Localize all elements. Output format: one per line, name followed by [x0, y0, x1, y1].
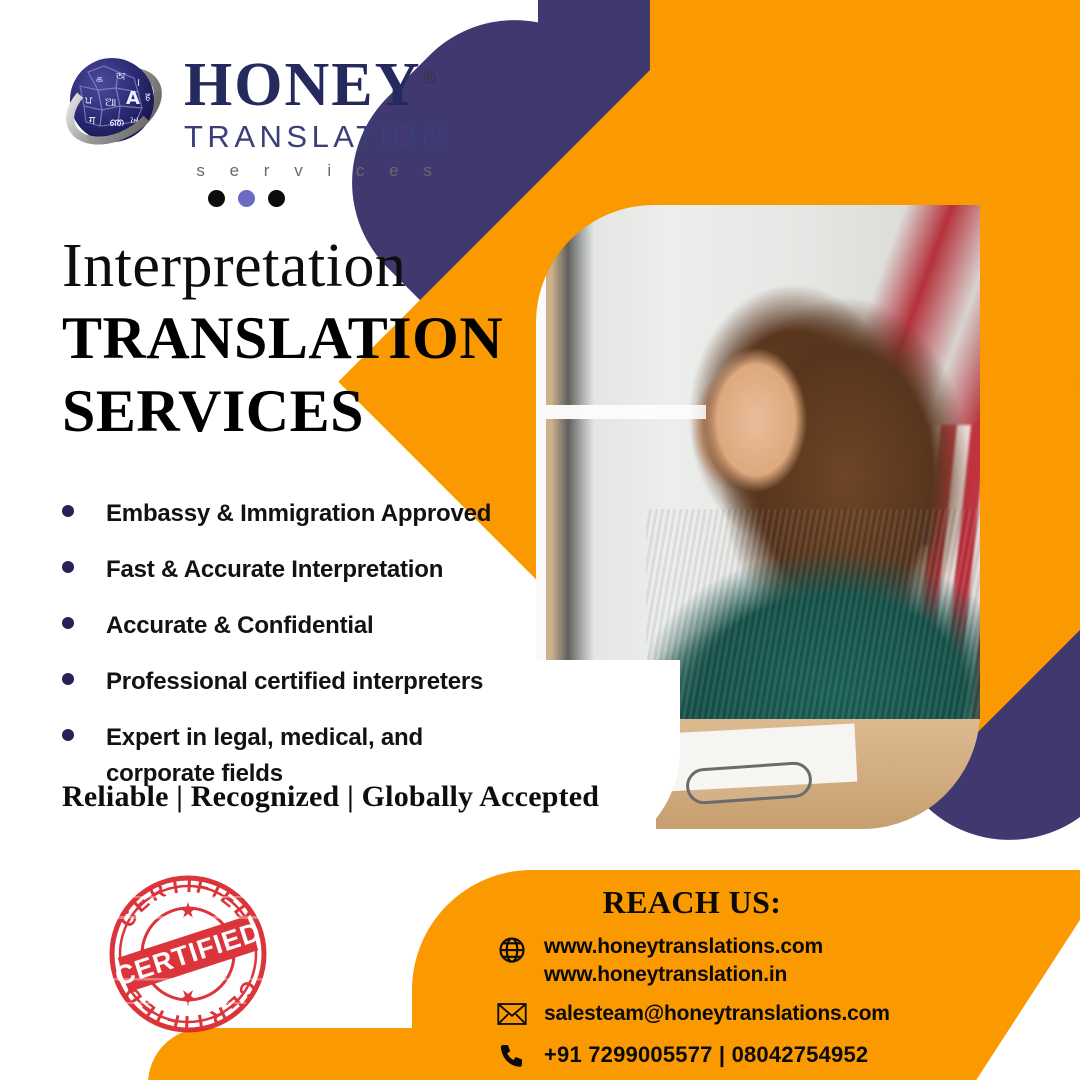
photo-notch-fill — [536, 700, 656, 840]
svg-text:A: A — [126, 88, 140, 109]
registered-trademark-icon: ® — [423, 68, 438, 87]
headline-main-line-2: SERVICES — [62, 378, 503, 445]
globe-logo-icon: க অ । ਪ ଆ A ह ग ഞ ખ — [58, 48, 170, 160]
feature-label: Fast & Accurate Interpretation — [106, 552, 443, 588]
headline-main-line-1: TRANSLATION — [62, 305, 503, 372]
contact-section: REACH US: www.honeytranslations.com www.… — [412, 870, 1080, 1080]
dot-1 — [208, 190, 225, 207]
bullet-dot-icon — [62, 673, 74, 685]
headline-script-line: Interpretation — [62, 234, 503, 299]
logo-name: HONEY® — [184, 56, 438, 115]
website-primary[interactable]: www.honeytranslations.com — [544, 935, 823, 958]
contact-row-email[interactable]: salesteam@honeytranslations.com — [490, 1000, 1080, 1028]
contact-row-phone[interactable]: +91 7299005577 | 08042754952 — [490, 1040, 1080, 1072]
svg-text:ഞ: ഞ — [109, 116, 124, 129]
list-item: Fast & Accurate Interpretation — [56, 552, 526, 588]
phone-icon — [490, 1040, 534, 1072]
svg-text:ह: ह — [145, 92, 151, 103]
bullet-dot-icon — [62, 729, 74, 741]
logo-line-services: s e r v i c e s — [184, 161, 448, 181]
contact-phone-value[interactable]: +91 7299005577 | 08042754952 — [544, 1040, 868, 1069]
dot-2 — [238, 190, 255, 207]
certified-stamp: CERTIFIED CERTIFIED CERTIFIED — [106, 872, 270, 1036]
brand-logo-wordmark: HONEY® TRANSLATION s e r v i c e s — [184, 48, 448, 181]
bullet-dot-icon — [62, 561, 74, 573]
feature-label: Professional certified interpreters — [106, 664, 483, 700]
website-secondary[interactable]: www.honeytranslation.in — [544, 963, 787, 986]
bullet-dot-icon — [62, 617, 74, 629]
poster-canvas: க অ । ਪ ଆ A ह ग ഞ ખ HONEY® TRANSLATION s… — [0, 0, 1080, 1080]
list-item: Embassy & Immigration Approved — [56, 496, 526, 532]
svg-text:অ: অ — [115, 70, 126, 83]
svg-text:ଆ: ଆ — [105, 95, 117, 109]
dot-3 — [268, 190, 285, 207]
contact-website-values: www.honeytranslations.com www.honeytrans… — [544, 933, 823, 988]
contact-row-website[interactable]: www.honeytranslations.com www.honeytrans… — [490, 933, 1080, 988]
contact-heading: REACH US: — [412, 884, 972, 921]
bullet-dot-icon — [62, 505, 74, 517]
feature-label: Embassy & Immigration Approved — [106, 496, 491, 532]
svg-text:ग: ग — [89, 114, 96, 127]
svg-text:ਪ: ਪ — [84, 94, 93, 107]
feature-list: Embassy & Immigration Approved Fast & Ac… — [56, 496, 526, 812]
logo-line-translation: TRANSLATION — [184, 119, 448, 155]
envelope-icon — [490, 1000, 534, 1026]
page-title: Interpretation TRANSLATION SERVICES — [62, 234, 503, 445]
svg-text:க: க — [96, 72, 103, 85]
globe-icon — [490, 933, 534, 965]
feature-label: Accurate & Confidential — [106, 608, 373, 644]
dot-separator — [208, 190, 285, 207]
list-item: Professional certified interpreters — [56, 664, 526, 700]
brand-logo[interactable]: க অ । ਪ ଆ A ह ग ഞ ખ HONEY® TRANSLATION s… — [58, 48, 448, 181]
tagline: Reliable | Recognized | Globally Accepte… — [62, 780, 599, 814]
contact-email-value[interactable]: salesteam@honeytranslations.com — [544, 1000, 890, 1028]
photo-subject-face — [686, 325, 826, 515]
list-item: Accurate & Confidential — [56, 608, 526, 644]
